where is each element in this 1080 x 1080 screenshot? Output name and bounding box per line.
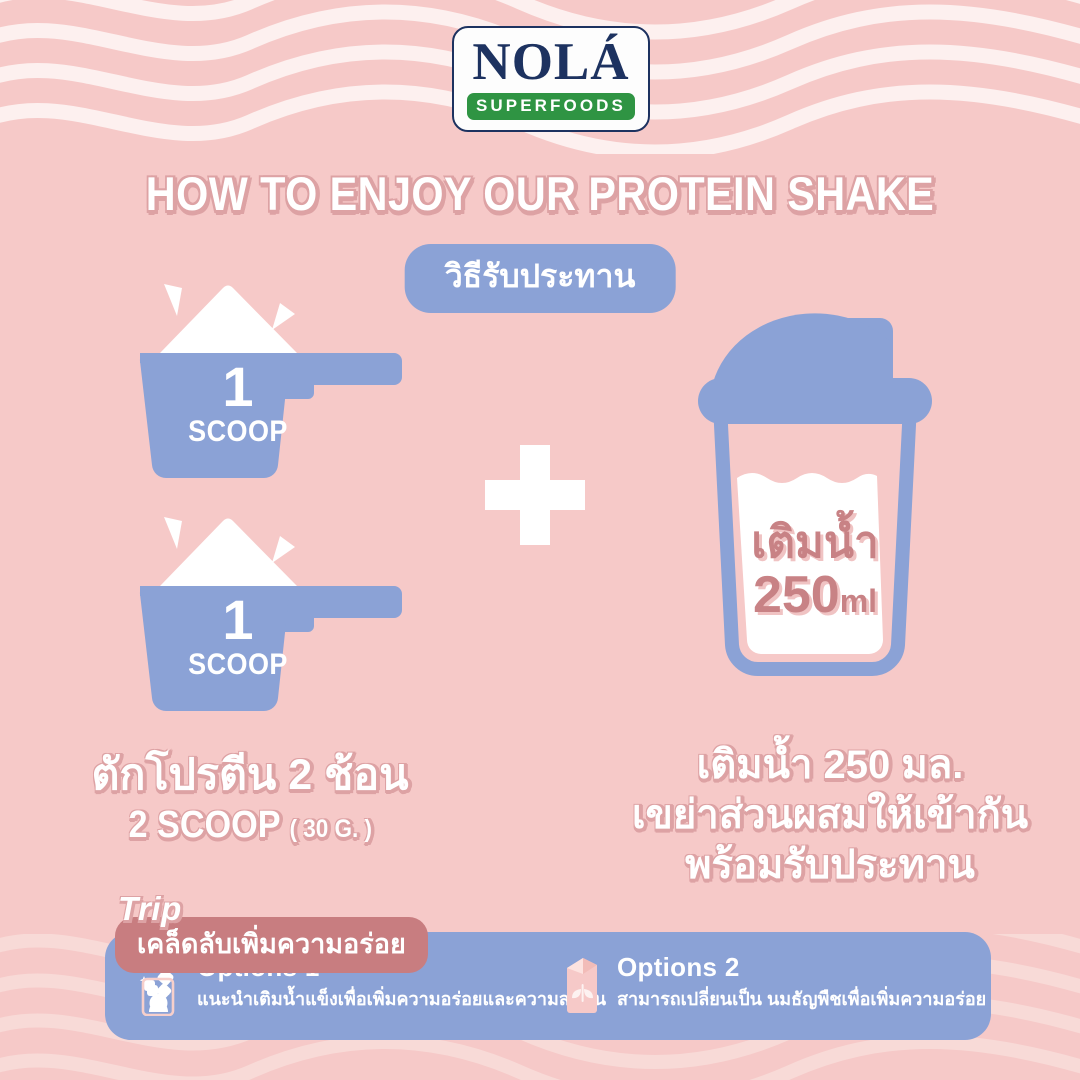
option-item-2: Options 2 สามารถเปลี่ยนเป็น นมธัญพืชเพื่… (553, 954, 986, 1016)
bottle-label-line1: เติมน้ำ (680, 518, 950, 567)
brand-logo: NOLÁ SUPERFOODS (452, 26, 650, 132)
caption-left-scoop: 2 SCOOP (128, 804, 279, 846)
caption-left: ตักโปรตีน 2 ช้อน 2 SCOOP ( 30 G. ) (40, 750, 460, 849)
option-2-text: Options 2 สามารถเปลี่ยนเป็น นมธัญพืชเพื่… (617, 954, 986, 1013)
option-1-desc: แนะนำเติมน้ำแข็งเพื่อเพิ่มความอร่อยและคว… (197, 984, 606, 1013)
caption-right-line1: เติมน้ำ 250 มล. (610, 740, 1050, 790)
trip-badge-word: Trip (118, 890, 182, 928)
option-2-desc: สามารถเปลี่ยนเป็น นมธัญพืชเพื่อเพิ่มความ… (617, 984, 986, 1013)
option-2-title: Options 2 (617, 954, 986, 981)
scoop-illustration-2: 1 SCOOP (120, 508, 430, 723)
scoop-unit: SCOOP (184, 415, 292, 449)
page-title: HOW TO ENJOY OUR PROTEIN SHAKE (65, 166, 1015, 221)
scoop-count: 1 (198, 359, 278, 415)
milk-carton-icon (553, 952, 607, 1016)
shaker-bottle-illustration: เติมน้ำ 250ml (680, 300, 950, 700)
bottle-amount-value: 250 (753, 566, 840, 624)
subtitle-badge: วิธีรับประทาน (405, 244, 676, 313)
bottle-label-amount: 250ml (680, 567, 950, 623)
caption-right: เติมน้ำ 250 มล. เขย่าส่วนผสมให้เข้ากัน พ… (610, 740, 1050, 890)
brand-name: NOLÁ (472, 38, 629, 87)
caption-left-english: 2 SCOOP ( 30 G. ) (128, 802, 371, 850)
caption-right-line3: พร้อมรับประทาน (610, 840, 1050, 890)
scoop-count: 1 (198, 592, 278, 648)
bottle-label: เติมน้ำ 250ml (680, 518, 950, 623)
poster-canvas: NOLÁ SUPERFOODS HOW TO ENJOY OUR PROTEIN… (0, 0, 1080, 1080)
caption-left-thai: ตักโปรตีน 2 ช้อน (40, 750, 460, 802)
brand-tagline-bar: SUPERFOODS (467, 93, 635, 120)
bottle-amount-unit: ml (840, 583, 877, 619)
scoop-illustration-1: 1 SCOOP (120, 275, 430, 490)
bottle-graphic (680, 300, 950, 700)
brand-tagline: SUPERFOODS (476, 96, 626, 116)
caption-right-line2: เขย่าส่วนผสมให้เข้ากัน (610, 790, 1050, 840)
scoop-unit: SCOOP (184, 648, 292, 682)
plus-icon (485, 445, 585, 545)
caption-left-weight: ( 30 G. ) (289, 815, 372, 843)
